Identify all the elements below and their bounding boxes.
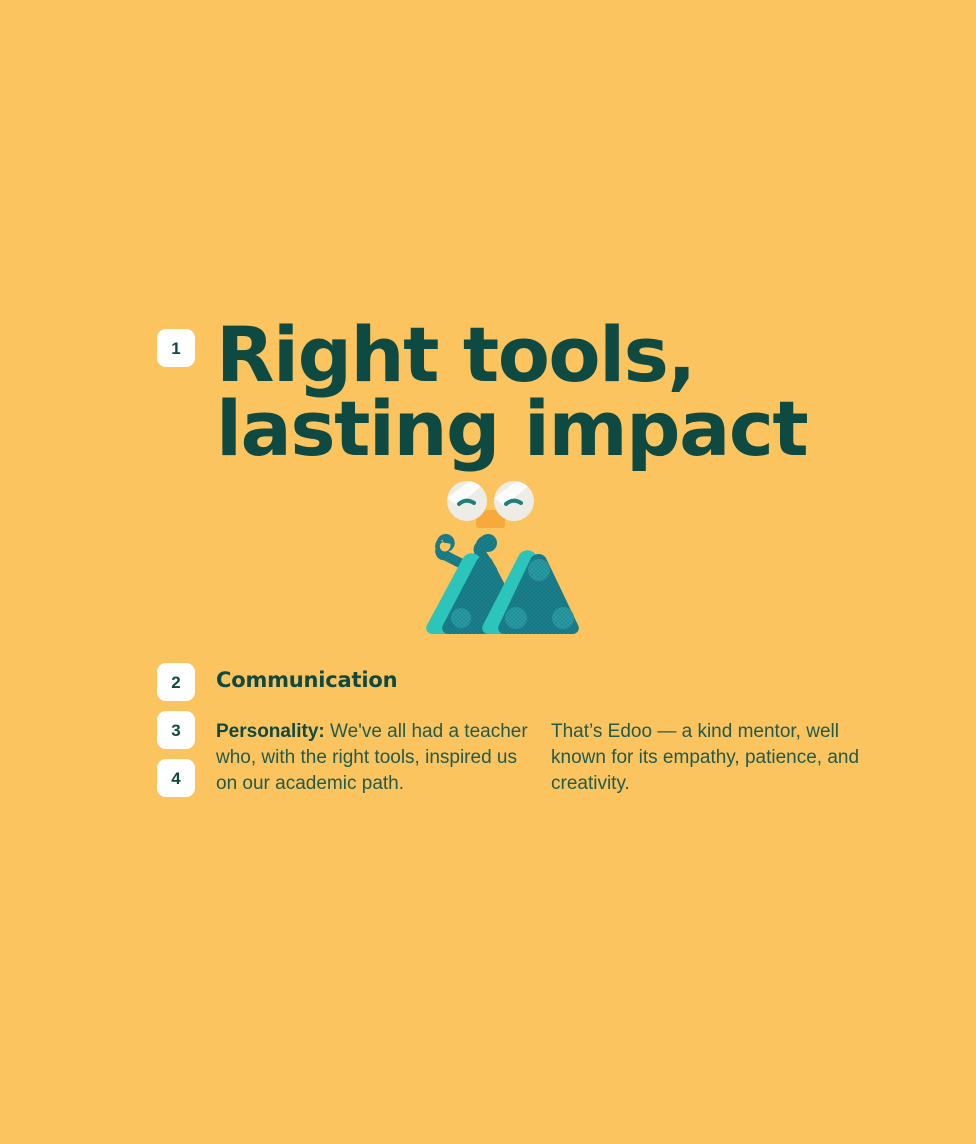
page-title-line-2: lasting impact — [216, 392, 916, 466]
page-title: Right tools, lasting impact — [216, 318, 916, 467]
badge-3[interactable]: 3 — [157, 711, 195, 749]
badge-3-number: 3 — [171, 722, 180, 739]
paragraph-personality-lead: Personality: — [216, 721, 325, 742]
paragraph-edoo-description: That’s Edoo — a kind mentor, well known … — [551, 719, 871, 797]
badge-2-number: 2 — [171, 674, 180, 691]
badge-1[interactable]: 1 — [157, 329, 195, 367]
badge-4[interactable]: 4 — [157, 759, 195, 797]
page-title-line-1: Right tools, — [216, 318, 916, 392]
badge-4-number: 4 — [171, 770, 180, 787]
page-root: 1 Right tools, lasting impact — [0, 0, 976, 1144]
badge-1-number: 1 — [171, 340, 180, 357]
edoo-mascot-tools-illustration — [415, 470, 585, 640]
section-heading-communication: Communication — [216, 668, 397, 693]
paragraph-personality: Personality: We've all had a teacher who… — [216, 719, 536, 797]
badge-2[interactable]: 2 — [157, 663, 195, 701]
